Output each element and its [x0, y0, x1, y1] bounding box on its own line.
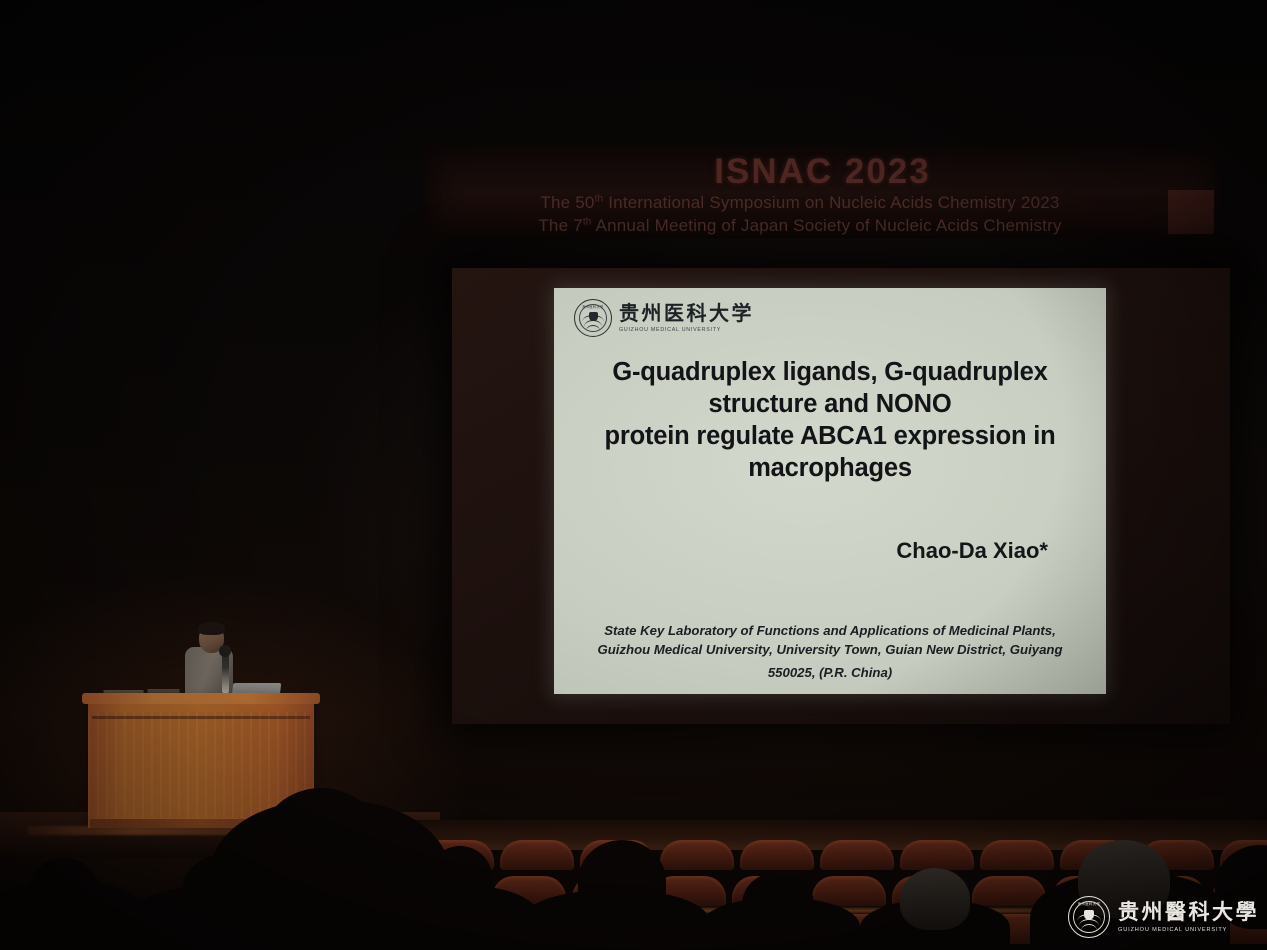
audience-head	[578, 840, 666, 922]
university-emblem-icon: 贵州医科大学	[574, 299, 612, 337]
slide-affiliation: State Key Laboratory of Functions and Ap…	[572, 622, 1088, 682]
banner-line2-prefix: The 7	[538, 216, 582, 235]
seat	[660, 840, 734, 870]
slide-title-line-3: protein regulate ABCA1 expression in	[572, 420, 1088, 452]
slide-university-logo: 贵州医科大学 贵州医科大学 GUIZHOU MEDICAL UNIVERSITY	[574, 299, 754, 337]
watermark-chinese-name: 贵州醫科大學	[1118, 902, 1259, 923]
audience-head	[262, 788, 380, 892]
watermark-emblem-icon: 贵州医科大学	[1068, 896, 1110, 938]
isnac-conference-banner: ISNAC 2023 The 50th International Sympos…	[425, 146, 1220, 238]
emblem-ring-characters: 贵州医科大学	[575, 304, 611, 309]
banner-line1-rest: International Symposium on Nucleic Acids…	[603, 193, 1059, 212]
audience-head	[428, 846, 492, 908]
affiliation-line-2: Guizhou Medical University, University T…	[572, 641, 1088, 659]
banner-line1-prefix: The 50	[540, 193, 594, 212]
university-watermark: 贵州医科大学 贵州醫科大學 GUIZHOU MEDICAL UNIVERSITY	[1068, 896, 1259, 938]
slide-logo-text-block: 贵州医科大学 GUIZHOU MEDICAL UNIVERSITY	[619, 304, 754, 333]
watermark-text-block: 贵州醫科大學 GUIZHOU MEDICAL UNIVERSITY	[1118, 902, 1259, 933]
banner-subtitle-line-2: The 7th Annual Meeting of Japan Society …	[425, 216, 1175, 236]
seat	[500, 840, 574, 870]
seat	[820, 840, 894, 870]
projected-slide: 贵州医科大学 贵州医科大学 GUIZHOU MEDICAL UNIVERSITY…	[554, 288, 1106, 694]
presentation-photo-scene: ISNAC 2023 The 50th International Sympos…	[0, 0, 1267, 950]
slide-logo-english-name: GUIZHOU MEDICAL UNIVERSITY	[619, 327, 754, 333]
slide-title: G-quadruplex ligands, G-quadruplex struc…	[572, 356, 1088, 485]
watermark-core-icon	[1084, 910, 1094, 920]
speaker-hair	[198, 622, 225, 635]
emblem-core-icon	[589, 312, 598, 321]
affiliation-line-1: State Key Laboratory of Functions and Ap…	[572, 622, 1088, 640]
slide-title-line-4: macrophages	[572, 452, 1088, 484]
watermark-emblem-ring-characters: 贵州医科大学	[1069, 901, 1109, 906]
banner-line2-rest: Annual Meeting of Japan Society of Nucle…	[592, 216, 1062, 235]
lectern-top-surface	[82, 693, 320, 704]
banner-line1-superscript: th	[595, 193, 604, 204]
slide-title-line-2: structure and NONO	[572, 388, 1088, 420]
audience-head	[742, 872, 814, 936]
microphone-capsule-icon	[219, 645, 231, 657]
slide-logo-chinese-name: 贵州医科大学	[619, 304, 754, 324]
seat	[900, 840, 974, 870]
seat	[740, 840, 814, 870]
audience-head	[28, 858, 100, 928]
banner-title: ISNAC 2023	[425, 152, 1220, 192]
banner-subtitle-line-1: The 50th International Symposium on Nucl…	[425, 193, 1175, 213]
lectern-trim-line	[92, 716, 310, 719]
watermark-english-name: GUIZHOU MEDICAL UNIVERSITY	[1118, 927, 1259, 933]
isnac-banner-logo-icon	[1168, 190, 1214, 234]
slide-title-line-1: G-quadruplex ligands, G-quadruplex	[572, 356, 1088, 388]
audience-head	[900, 868, 970, 930]
affiliation-postal-country: 550025, (P.R. China)	[572, 664, 1088, 682]
seat	[980, 840, 1054, 870]
banner-line2-superscript: th	[583, 216, 592, 227]
slide-author-name: Chao-Da Xiao*	[896, 538, 1048, 564]
